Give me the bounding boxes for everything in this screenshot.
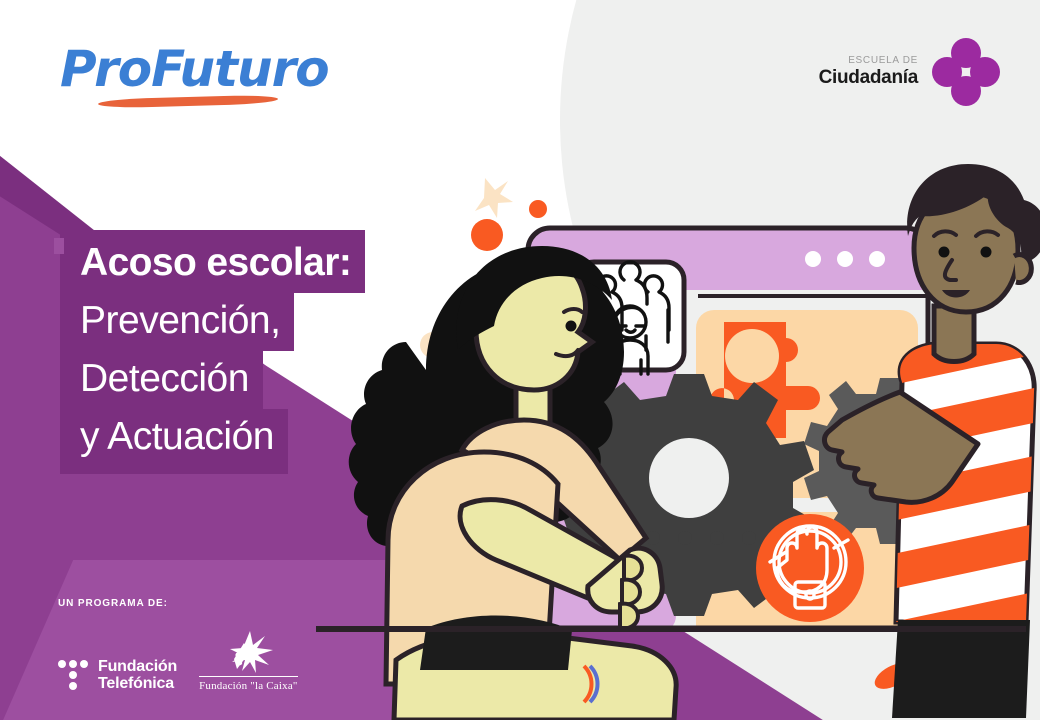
dot-2 [69, 660, 77, 668]
telefonica-dots-icon [58, 658, 88, 692]
escuela-line2: Ciudadanía [819, 67, 918, 89]
title-line-1: Acoso escolar: [60, 230, 365, 293]
slide-canvas: ProFuturo ESCUELA DE Ciudadanía Acoso es… [0, 0, 1040, 720]
telefonica-name-line1: Fundación [98, 658, 177, 675]
dot-1 [58, 660, 66, 668]
circle-left-icon [932, 57, 962, 87]
fundacion-la-caixa-logo[interactable]: Fundación "la Caixa" [199, 629, 298, 692]
title-line-2: Prevención, [60, 293, 294, 351]
title-line-4: y Actuación [60, 409, 288, 474]
fundacion-telefonica-logo[interactable]: Fundación Telefónica [58, 658, 177, 692]
title-edge-tab [54, 238, 64, 254]
caixa-caption: Fundación "la Caixa" [199, 676, 298, 692]
dot-4 [69, 671, 77, 679]
sponsor-logos-row: Fundación Telefónica Fundación " [58, 629, 298, 692]
sponsors-block: UN PROGRAMA DE: Fundación Telefónica [58, 598, 298, 692]
dot-5 [69, 682, 77, 690]
stop-hand-card [756, 514, 864, 622]
profuturo-logo[interactable]: ProFuturo [60, 40, 290, 118]
profuturo-wordmark: ProFuturo [60, 40, 290, 98]
window-dots-icon [805, 251, 885, 267]
caixa-star-icon [220, 629, 276, 673]
sponsors-label: UN PROGRAMA DE: [58, 598, 298, 609]
telefonica-name-line2: Telefónica [98, 675, 177, 692]
page-title: Acoso escolar: Prevención, Detección y A… [60, 230, 365, 474]
hero-illustration [300, 120, 1040, 720]
escuela-line1: ESCUELA DE [819, 55, 918, 66]
escuela-ciudadania-logo[interactable]: ESCUELA DE Ciudadanía [819, 38, 1000, 106]
four-circles-diamond-icon [932, 38, 1000, 106]
desk-line [316, 626, 1026, 632]
dot-3 [80, 660, 88, 668]
telefonica-name: Fundación Telefónica [98, 658, 177, 692]
title-line-3: Detección [60, 351, 263, 409]
escuela-text: ESCUELA DE Ciudadanía [819, 55, 918, 89]
